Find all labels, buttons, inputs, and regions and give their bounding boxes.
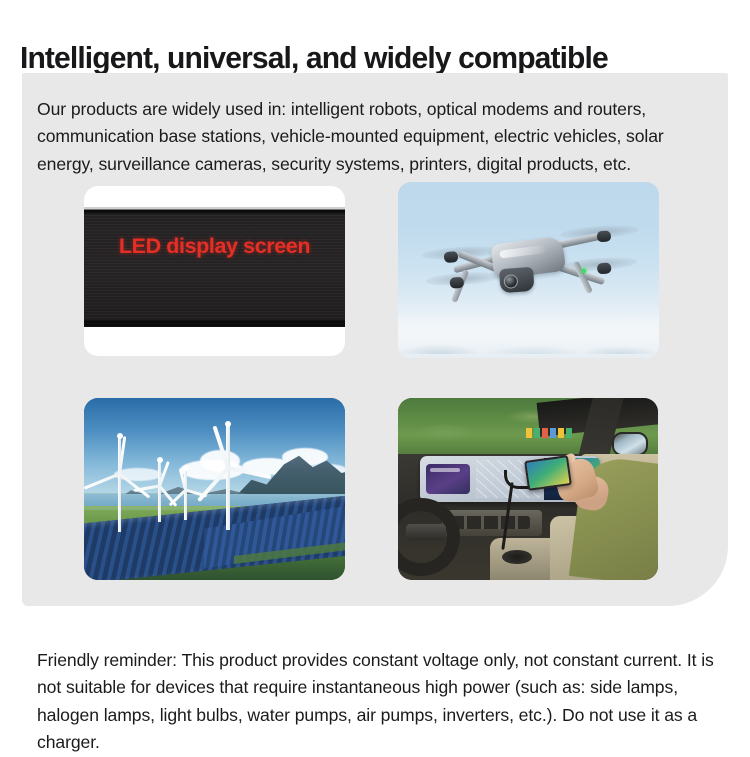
drone-motor: [596, 262, 611, 274]
turbine-hub: [157, 457, 163, 463]
gallery-item-car-interior: [398, 398, 658, 580]
turbine-hub: [117, 433, 123, 439]
product-feature-page: Intelligent, universal, and widely compa…: [0, 0, 750, 750]
intro-paragraph: Our products are widely used in: intelli…: [37, 96, 717, 179]
turbine-hub: [183, 465, 189, 471]
turbine-hub: [225, 421, 231, 427]
page-title: Intelligent, universal, and widely compa…: [20, 40, 725, 76]
side-mirror: [612, 432, 648, 456]
instrument-cluster: [426, 464, 470, 494]
led-display-caption: LED display screen: [84, 186, 345, 306]
cup-holder: [502, 550, 532, 564]
turbine-mast: [158, 460, 161, 522]
drone-motor: [449, 277, 464, 289]
drone-graphic: [428, 215, 630, 320]
friendly-reminder-text: Friendly reminder: This product provides…: [37, 647, 727, 757]
gallery-item-solar-wind-farm: [84, 398, 345, 580]
drone-motor: [596, 230, 611, 242]
gallery-item-led-display: LED display screen: [84, 186, 345, 356]
snow-ridge: [398, 328, 659, 354]
turbine-mast: [184, 468, 187, 520]
handheld-screen: [524, 455, 572, 491]
gallery-item-drone: [398, 182, 659, 358]
status-led: [581, 268, 586, 273]
app-icons-row: [526, 428, 572, 438]
turbine-mast: [226, 424, 230, 530]
drone-motor: [443, 251, 458, 263]
camera-lens-icon: [503, 274, 518, 289]
drone-gimbal: [499, 267, 535, 293]
steering-wheel-controls: [406, 524, 446, 540]
